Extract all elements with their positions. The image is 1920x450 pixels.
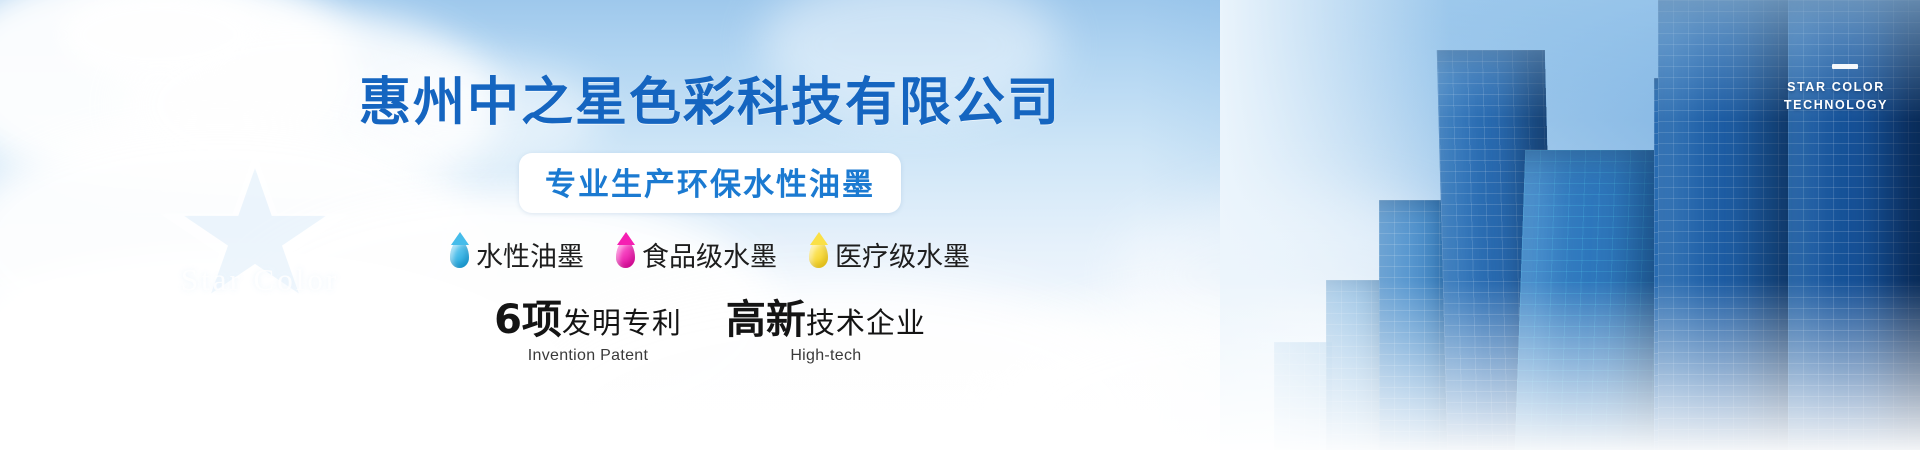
company-hero-banner: STAR COLOR TECHNOLOGY Star Color 惠州中之星色彩… xyxy=(0,0,1920,450)
building-accent-bar xyxy=(1832,64,1858,69)
water-drop-icon xyxy=(616,241,635,268)
feature-item: 食品级水墨 xyxy=(616,235,777,274)
badge-chinese-text: 6项发明专利 xyxy=(494,300,682,340)
badge-english-text: Invention Patent xyxy=(494,347,682,365)
badge-english-text: High-tech xyxy=(726,347,926,365)
water-drop-icon xyxy=(809,241,828,268)
building-brand-text: STAR COLOR TECHNOLOGY xyxy=(1770,78,1902,114)
badge-rest: 发明专利 xyxy=(562,306,682,340)
tagline-pill: 专业生产环保水性油墨 xyxy=(519,153,901,213)
company-title: 惠州中之星色彩科技有限公司 xyxy=(359,60,1061,135)
feature-item: 水性油墨 xyxy=(450,235,584,274)
water-drop-icon xyxy=(450,241,469,268)
credential-badge: 高新技术企业 High-tech xyxy=(726,300,926,365)
badge-rest: 技术企业 xyxy=(806,306,926,340)
feature-label: 水性油墨 xyxy=(476,235,584,274)
badge-highlight: 高新 xyxy=(726,297,806,343)
badge-chinese-text: 高新技术企业 xyxy=(726,300,926,340)
tagline-text: 专业生产环保水性油墨 xyxy=(545,159,875,204)
feature-item: 医疗级水墨 xyxy=(809,235,970,274)
feature-label: 食品级水墨 xyxy=(642,235,777,274)
banner-content: 惠州中之星色彩科技有限公司 专业生产环保水性油墨 水性油墨 食品级水墨 医疗级水… xyxy=(0,0,1420,450)
building-brand-line1: STAR COLOR xyxy=(1770,78,1902,96)
building-brand-line2: TECHNOLOGY xyxy=(1770,96,1902,114)
credential-badge-list: 6项发明专利 Invention Patent 高新技术企业 High-tech xyxy=(494,300,926,365)
feature-label: 医疗级水墨 xyxy=(835,235,970,274)
credential-badge: 6项发明专利 Invention Patent xyxy=(494,300,682,365)
badge-highlight: 6项 xyxy=(494,297,562,343)
product-feature-list: 水性油墨 食品级水墨 医疗级水墨 xyxy=(450,235,970,274)
